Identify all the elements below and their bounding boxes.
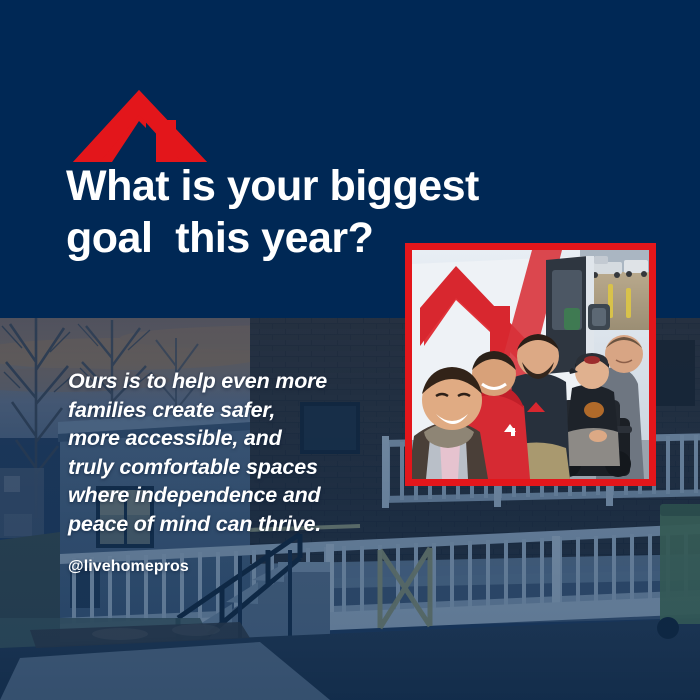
- team-group-photo-in-front-of-company-van: [412, 250, 649, 479]
- team-photo-frame: [405, 243, 656, 486]
- home-roof-chevron-logo: [70, 88, 210, 166]
- social-handle: @livehomepros: [68, 558, 189, 576]
- body-copy: Ours is to help even more families creat…: [68, 367, 378, 539]
- social-post-canvas: What is your biggest goal this year?: [0, 0, 700, 700]
